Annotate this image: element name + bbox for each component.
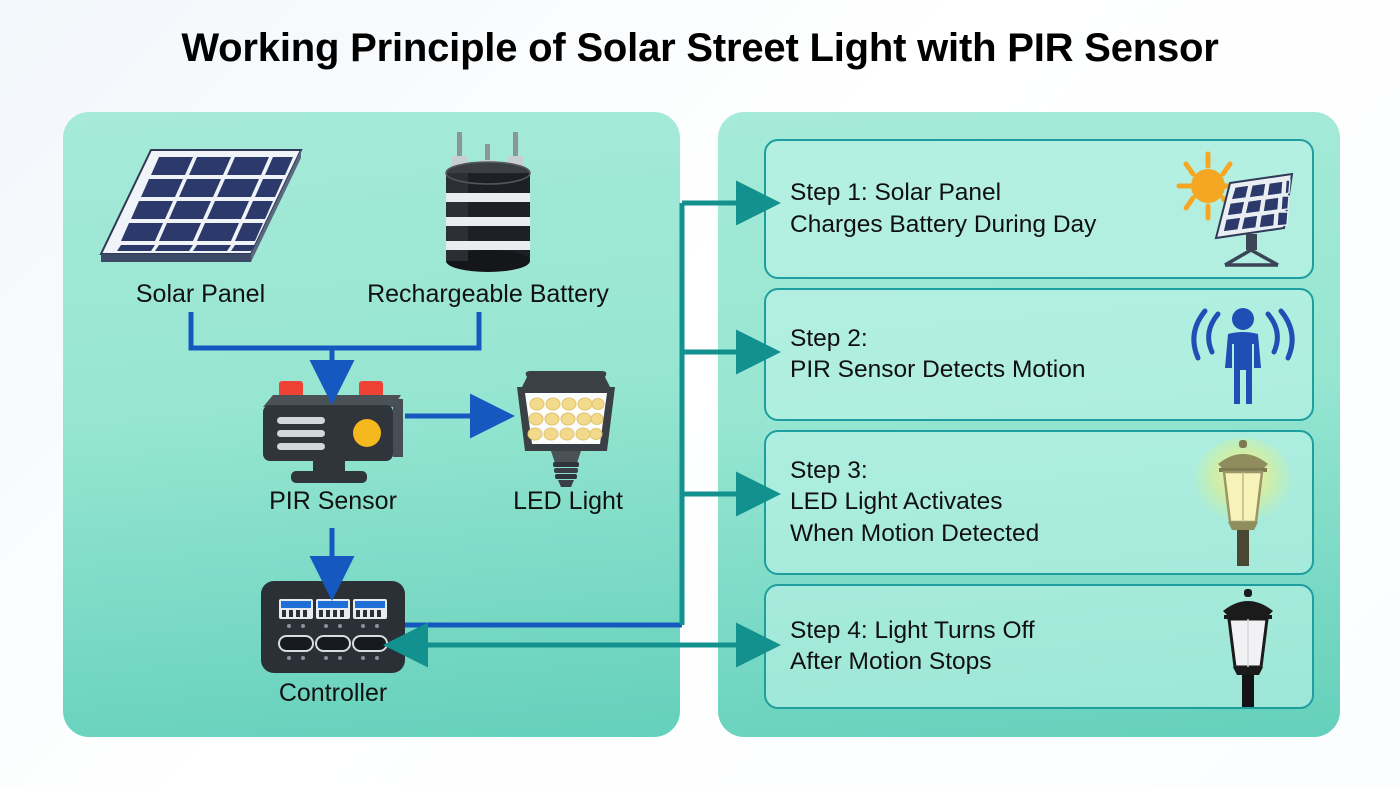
pir-sensor-label: PIR Sensor <box>213 487 453 516</box>
unlit-street-lamp-icon <box>1198 587 1298 707</box>
step-card-1[interactable]: Step 1: Solar Panel Charges Battery Duri… <box>764 139 1314 279</box>
lit-street-lamp-icon <box>1188 438 1298 568</box>
person-motion-icon <box>1188 300 1298 410</box>
step-2-text: Step 2: PIR Sensor Detects Motion <box>790 323 1085 387</box>
battery-label: Rechargeable Battery <box>313 280 663 309</box>
led-light-icon <box>503 365 629 489</box>
step-3-text: Step 3: LED Light Activates When Motion … <box>790 455 1039 551</box>
controller-icon <box>259 579 407 679</box>
page-title: Working Principle of Solar Street Light … <box>0 26 1400 71</box>
led-light-label: LED Light <box>463 487 673 516</box>
components-panel: Solar Panel Rechargeable Battery <box>63 112 680 737</box>
solar-panel-label: Solar Panel <box>93 280 308 309</box>
step-1-text: Step 1: Solar Panel Charges Battery Duri… <box>790 177 1096 241</box>
step-card-2[interactable]: Step 2: PIR Sensor Detects Motion <box>764 288 1314 421</box>
solar-panel-icon <box>93 142 308 267</box>
sun-with-solar-panel-icon <box>1178 150 1298 268</box>
controller-label: Controller <box>213 679 453 708</box>
step-4-text: Step 4: Light Turns Off After Motion Sto… <box>790 615 1035 679</box>
steps-panel: Step 1: Solar Panel Charges Battery Duri… <box>718 112 1340 737</box>
diagram-canvas: Working Principle of Solar Street Light … <box>0 0 1400 787</box>
step-card-4[interactable]: Step 4: Light Turns Off After Motion Sto… <box>764 584 1314 709</box>
step-card-3[interactable]: Step 3: LED Light Activates When Motion … <box>764 430 1314 575</box>
pir-sensor-icon <box>255 375 411 485</box>
battery-icon <box>433 130 543 272</box>
